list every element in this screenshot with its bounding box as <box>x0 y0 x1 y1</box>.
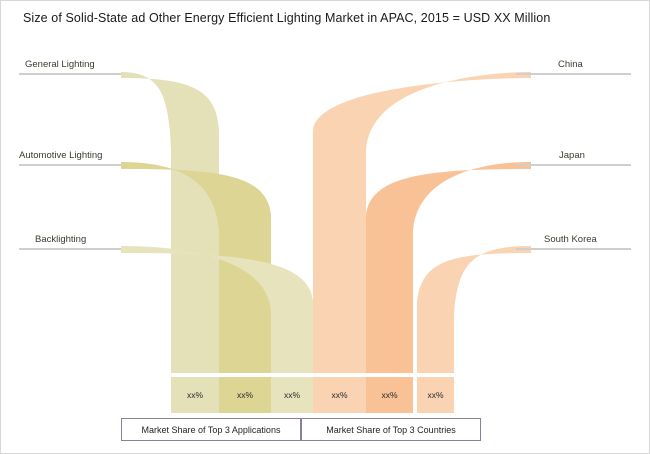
pct-label: xx% <box>284 390 300 400</box>
flow-general-lighting <box>121 72 219 373</box>
flow-south-korea <box>417 246 531 373</box>
sankey-chart-figure: Size of Solid-State ad Other Energy Effi… <box>0 0 650 454</box>
pct-cell-backlighting: xx% <box>271 377 313 413</box>
node-rule-right-1 <box>516 164 631 166</box>
node-label-general-lighting: General Lighting <box>25 59 95 70</box>
pct-cell-japan: xx% <box>366 377 413 413</box>
node-rule-right-0 <box>516 73 631 75</box>
legend-label: Market Share of Top 3 Applications <box>142 425 281 435</box>
pct-label: xx% <box>381 390 397 400</box>
node-rule-left-2 <box>19 248 121 250</box>
pct-label: xx% <box>187 390 203 400</box>
node-label-south-korea: South Korea <box>544 234 597 245</box>
legend-countries: Market Share of Top 3 Countries <box>301 418 481 441</box>
node-rule-right-2 <box>516 248 631 250</box>
legend-applications: Market Share of Top 3 Applications <box>121 418 301 441</box>
node-rule-left-1 <box>19 164 121 166</box>
legend-label: Market Share of Top 3 Countries <box>326 425 455 435</box>
node-rule-left-0 <box>19 73 121 75</box>
pct-cell-china: xx% <box>313 377 366 413</box>
pct-cell-south-korea: xx% <box>417 377 454 413</box>
pct-label: xx% <box>427 390 443 400</box>
node-label-china: China <box>558 59 583 70</box>
pct-cell-general-lighting: xx% <box>171 377 219 413</box>
pct-cell-automotive-lighting: xx% <box>219 377 271 413</box>
node-label-backlighting: Backlighting <box>35 234 86 245</box>
pct-label: xx% <box>331 390 347 400</box>
node-label-japan: Japan <box>559 150 585 161</box>
node-label-automotive-lighting: Automotive Lighting <box>19 150 102 161</box>
pct-label: xx% <box>237 390 253 400</box>
